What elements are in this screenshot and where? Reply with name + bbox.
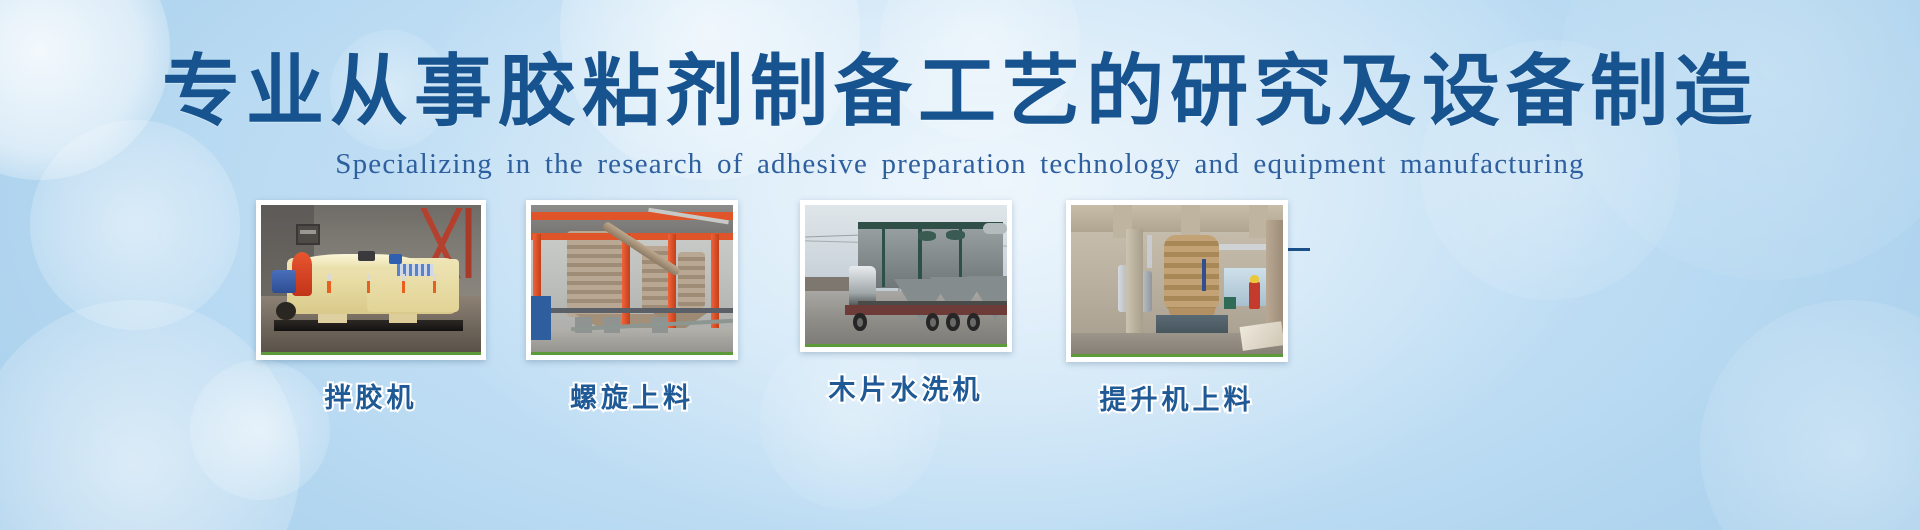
gallery-item[interactable]: 拌胶机 bbox=[256, 200, 486, 415]
gallery-item-caption: 拌胶机 bbox=[256, 376, 486, 415]
gallery-item[interactable]: 木片水洗机 bbox=[800, 200, 1012, 407]
photo-frame bbox=[800, 200, 1012, 352]
photo-elevator-feeding bbox=[1071, 205, 1283, 357]
photo-frame bbox=[1066, 200, 1288, 362]
photo-wood-chip-washer bbox=[805, 205, 1007, 347]
promotional-banner: 专业从事胶粘剂制备工艺的研究及设备制造 Specializing in the … bbox=[0, 0, 1920, 530]
gallery-item[interactable]: 提升机上料 bbox=[1066, 200, 1288, 417]
photo-screw-conveyor bbox=[531, 205, 733, 355]
photo-frame bbox=[256, 200, 486, 360]
gallery-item-caption: 木片水洗机 bbox=[800, 368, 1012, 407]
process-gallery: 拌胶机 bbox=[0, 200, 1920, 530]
gallery-item[interactable]: 螺旋上料 bbox=[526, 200, 738, 415]
banner-headline: 专业从事胶粘剂制备工艺的研究及设备制造 bbox=[0, 52, 1920, 130]
photo-glue-mixer bbox=[261, 205, 481, 355]
banner-subheadline: Specializing in the research of adhesive… bbox=[0, 148, 1920, 181]
gallery-item-caption: 螺旋上料 bbox=[526, 376, 738, 415]
photo-frame bbox=[526, 200, 738, 360]
gallery-item-caption: 提升机上料 bbox=[1066, 378, 1288, 417]
